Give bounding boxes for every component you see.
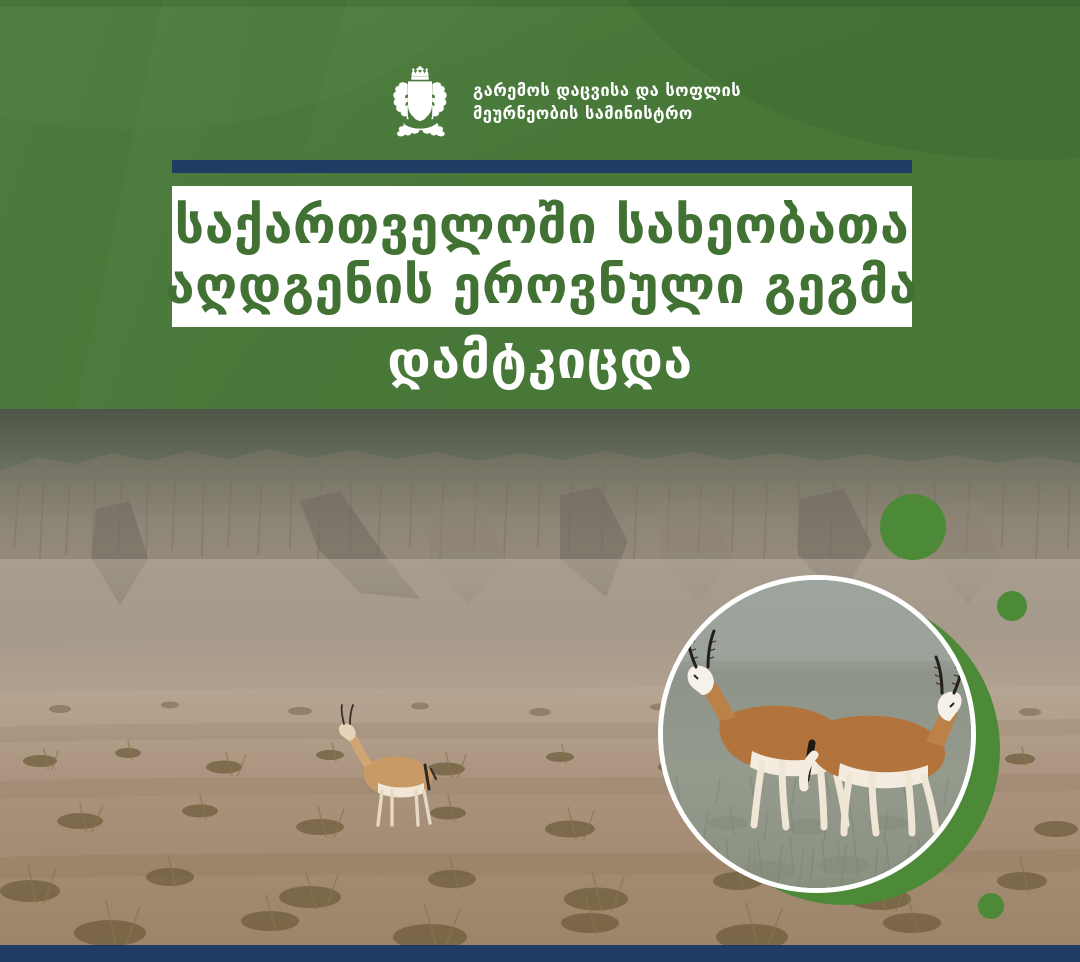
title-accent-bar: [172, 160, 912, 173]
gazelle-inset-photo: [658, 575, 976, 893]
poster: გარემოს დაცვისა და სოფლის მეურნეობის სამ…: [0, 0, 1080, 962]
ministry-name: გარემოს დაცვისა და სოფლის მეურნეობის სამ…: [473, 79, 741, 126]
green-dot-tiny: [978, 893, 1004, 919]
ministry-lockup: გარემოს დაცვისა და სოფლის მეურნეობის სამ…: [383, 62, 741, 142]
title-line-3: დამტკიცდა: [0, 333, 1080, 390]
georgian-coat-of-arms-icon: [383, 62, 457, 142]
footer-accent-bar: [0, 945, 1080, 962]
title-line-1: საქართველოში სახეობათა: [175, 197, 910, 256]
green-dot-small: [997, 591, 1027, 621]
title-line-2: აღდგენის ეროვნული გეგმა: [166, 257, 919, 316]
header-band: გარემოს დაცვისა და სოფლის მეურნეობის სამ…: [0, 0, 1080, 409]
title-plate: საქართველოში სახეობათა აღდგენის ეროვნული…: [172, 186, 912, 327]
green-dot-large: [880, 494, 946, 560]
